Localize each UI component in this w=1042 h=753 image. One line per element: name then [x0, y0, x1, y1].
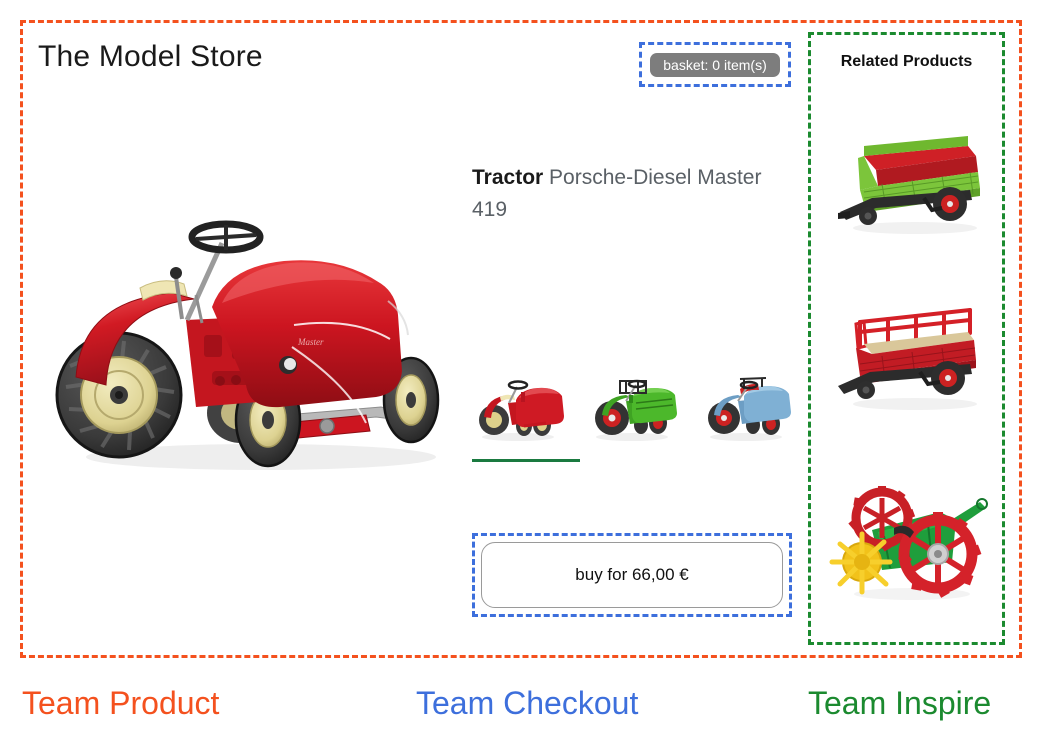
variant-selected-underline: [472, 459, 580, 462]
related-product-red-stake-side-trailer[interactable]: [820, 288, 995, 423]
team-label-checkout: Team Checkout: [416, 685, 638, 722]
related-product-green-red-farm-trailer[interactable]: [820, 112, 995, 247]
app-canvas: Master The Model Store basket: 0 item(s)…: [0, 0, 1042, 753]
product-title: Tractor Porsche-Diesel Master 419: [472, 162, 787, 226]
page-title: The Model Store: [38, 40, 263, 74]
buy-button[interactable]: buy for 66,00 €: [481, 542, 783, 608]
hero-product-image[interactable]: Master: [36, 195, 466, 485]
related-products-heading: Related Products: [808, 53, 1005, 71]
variant-thumb-blue-tractor[interactable]: [700, 373, 792, 445]
related-product-green-red-manure-spreader[interactable]: [820, 462, 995, 612]
variant-thumb-green-tractor[interactable]: [586, 373, 678, 445]
team-label-inspire: Team Inspire: [808, 685, 991, 722]
variant-thumb-red-tractor[interactable]: [472, 373, 564, 445]
basket-status-badge[interactable]: basket: 0 item(s): [650, 53, 780, 77]
svg-text:Master: Master: [297, 337, 324, 347]
product-brand-label: Tractor: [472, 166, 543, 189]
product-variant-row: [472, 370, 792, 445]
team-label-product: Team Product: [22, 685, 219, 722]
